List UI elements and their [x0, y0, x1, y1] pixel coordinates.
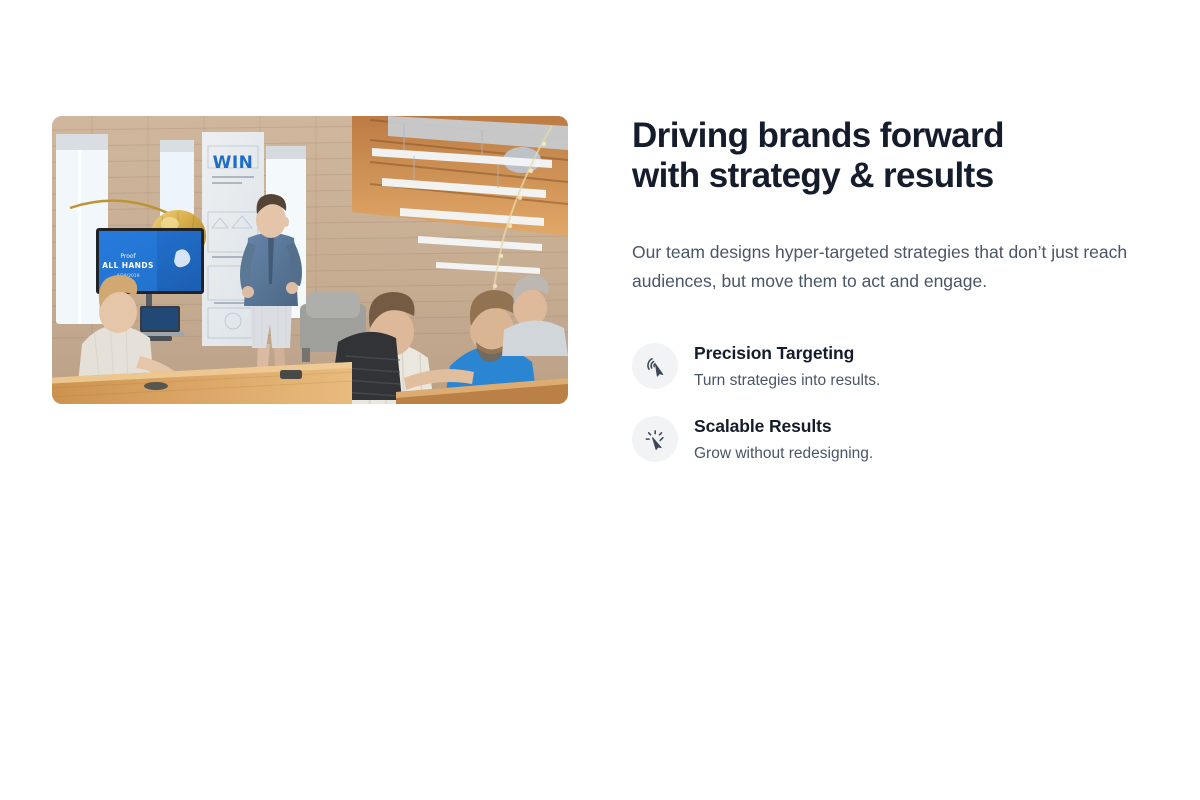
feature-description: Turn strategies into results. [694, 371, 880, 391]
hero-section: WIN [52, 116, 1148, 464]
feature-list: Precision Targeting Turn strategies into… [632, 340, 1148, 464]
feature-description: Grow without redesigning. [694, 444, 873, 464]
hero-image: WIN [52, 116, 568, 404]
feature-title: Scalable Results [694, 415, 873, 437]
tap-target-icon [632, 343, 678, 389]
feature-body: Precision Targeting Turn strategies into… [694, 340, 880, 391]
headline-line-1: Driving brands forward [632, 116, 1004, 155]
hero-subcopy: Our team designs hyper-targeted strategi… [632, 238, 1148, 296]
feature-body: Scalable Results Grow without redesignin… [694, 413, 873, 464]
page-title: Driving brands forward with strategy & r… [632, 116, 1132, 196]
headline-line-2: with strategy & results [632, 156, 994, 195]
feature-item-precision-targeting: Precision Targeting Turn strategies into… [632, 340, 1148, 391]
hero-page: WIN [0, 0, 1200, 800]
feature-title: Precision Targeting [694, 342, 880, 364]
hero-media-column: WIN [52, 116, 568, 404]
cursor-click-icon [632, 416, 678, 462]
feature-item-scalable-results: Scalable Results Grow without redesignin… [632, 413, 1148, 464]
hero-copy-column: Driving brands forward with strategy & r… [632, 116, 1148, 464]
